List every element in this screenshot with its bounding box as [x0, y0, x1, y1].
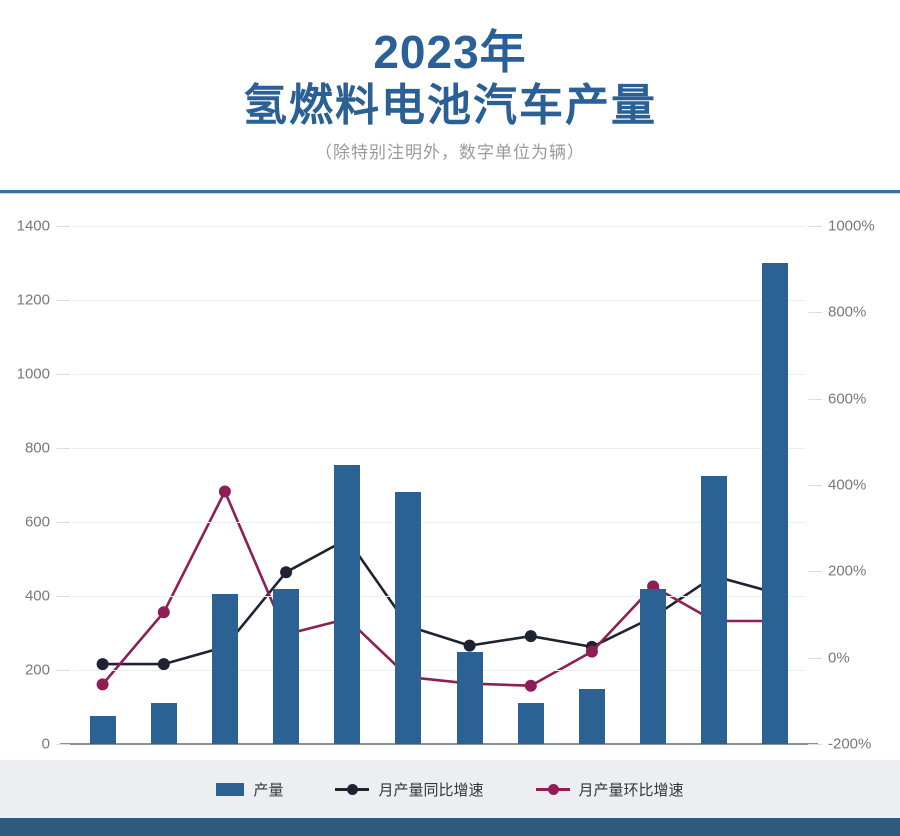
y-axis-tick-mark	[56, 448, 70, 449]
bar[interactable]	[640, 589, 666, 744]
plot-area: 1月 -15%2月 -15%3月 25%4月 198%5月 275%6月 73%…	[72, 226, 806, 744]
line-data-point[interactable]: 1月 -15%	[97, 658, 109, 670]
y-axis-tick-label: 800	[25, 440, 50, 457]
bar[interactable]	[334, 465, 360, 744]
y-axis-tick-label: 1000	[17, 366, 50, 383]
y2-axis-tick-label: 600%	[828, 390, 866, 407]
line-data-point[interactable]: 7月 28%	[464, 640, 476, 652]
y-axis-tick-mark	[56, 744, 70, 745]
y-axis-tick-label: 600	[25, 514, 50, 531]
line-data-point[interactable]: 8月 -65%	[525, 680, 537, 692]
line-series-path	[103, 492, 776, 686]
y-axis-tick-mark	[56, 522, 70, 523]
chart-header: 2023年 氢燃料电池汽车产量 （除特别注明外，数字单位为辆）	[0, 0, 900, 193]
legend-item-chanliang[interactable]: 产量	[216, 779, 283, 800]
y-axis-tick-label: 1200	[17, 292, 50, 309]
bar[interactable]	[151, 703, 177, 744]
gridline	[72, 670, 806, 671]
y-axis-tick-label: 200	[25, 662, 50, 679]
line-data-point[interactable]: 8月 50%	[525, 630, 537, 642]
bar[interactable]	[273, 589, 299, 744]
line-data-point[interactable]: 2月 105%	[158, 606, 170, 618]
gridline	[72, 522, 806, 523]
legend-swatch-bar	[216, 783, 244, 796]
page-title: 氢燃料电池汽车产量	[243, 80, 657, 132]
y2-axis-tick-label: 800%	[828, 304, 866, 321]
y2-axis-tick-mark	[808, 226, 822, 227]
line-data-point[interactable]: 3月 385%	[219, 486, 231, 498]
gridline	[72, 226, 806, 227]
line-data-point[interactable]: 4月 198%	[280, 566, 292, 578]
y2-axis-tick-mark	[808, 485, 822, 486]
y2-axis-tick-mark	[808, 658, 822, 659]
y2-axis-tick-mark	[808, 744, 822, 745]
footer-bar	[0, 818, 900, 836]
y2-axis-tick-mark	[808, 399, 822, 400]
y-axis-tick-mark	[56, 300, 70, 301]
gridline	[72, 374, 806, 375]
gridline	[72, 300, 806, 301]
legend-label-0: 产量	[253, 779, 283, 800]
legend-item-huanbi[interactable]: 月产量环比增速	[536, 779, 684, 800]
y-axis-tick-label: 400	[25, 588, 50, 605]
bar[interactable]	[395, 492, 421, 744]
chart-canvas: 1月 -15%2月 -15%3月 25%4月 198%5月 275%6月 73%…	[0, 194, 900, 760]
y-axis-tick-mark	[56, 596, 70, 597]
gridline	[72, 596, 806, 597]
legend-marker-line-mom	[536, 783, 570, 795]
y2-axis-tick-label: 0%	[828, 649, 850, 666]
y-axis-tick-mark	[56, 374, 70, 375]
y2-axis-tick-label: 1000%	[828, 218, 875, 235]
y2-axis-tick-label: 200%	[828, 563, 866, 580]
y-axis-tick-mark	[56, 670, 70, 671]
bar[interactable]	[90, 716, 116, 744]
y-axis-tick-label: 1400	[17, 218, 50, 235]
bar[interactable]	[518, 703, 544, 744]
bar[interactable]	[762, 263, 788, 744]
y-axis-tick-label: 0	[42, 736, 50, 753]
line-data-point[interactable]: 1月 -62%	[97, 678, 109, 690]
y2-axis-tick-label: -200%	[828, 736, 871, 753]
chart-subtitle: （除特别注明外，数字单位为辆）	[315, 142, 585, 164]
title-year: 2023年	[373, 26, 526, 78]
legend-label-2: 月产量环比增速	[579, 779, 684, 800]
gridline	[72, 448, 806, 449]
line-series-layer: 1月 -15%2月 -15%3月 25%4月 198%5月 275%6月 73%…	[72, 226, 806, 744]
legend-label-1: 月产量同比增速	[378, 779, 483, 800]
bar[interactable]	[212, 594, 238, 744]
bar[interactable]	[457, 652, 483, 745]
line-data-point[interactable]: 9月 14%	[586, 646, 598, 658]
y2-axis-tick-label: 400%	[828, 477, 866, 494]
line-data-point[interactable]: 9月 25%	[586, 641, 598, 653]
chart-legend: 产量 月产量同比增速 月产量环比增速	[0, 760, 900, 818]
legend-marker-line-yoy	[335, 783, 369, 795]
bar[interactable]	[701, 476, 727, 744]
line-series-path	[103, 539, 776, 664]
bar[interactable]	[579, 689, 605, 745]
line-data-point[interactable]: 2月 -15%	[158, 658, 170, 670]
y2-axis-tick-mark	[808, 312, 822, 313]
legend-item-tongbi[interactable]: 月产量同比增速	[335, 779, 483, 800]
y2-axis-tick-mark	[808, 571, 822, 572]
y-axis-tick-mark	[56, 226, 70, 227]
